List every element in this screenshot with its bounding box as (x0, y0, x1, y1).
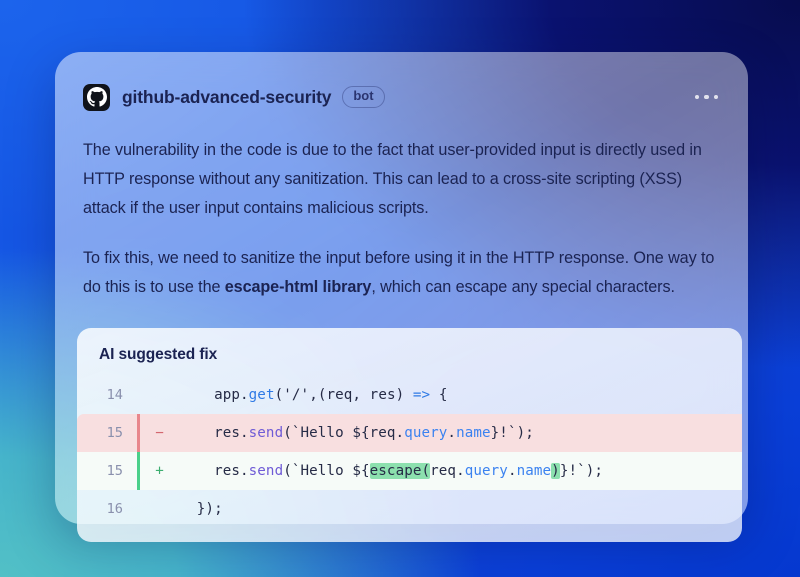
line-number: 15 (85, 425, 137, 441)
line-number: 14 (85, 387, 137, 403)
table-row: 14 app.get('/',(req, res) => { (77, 376, 742, 414)
line-number: 16 (85, 501, 137, 517)
escape-html-library-term: escape-html library (225, 278, 372, 296)
author-name: github-advanced-security (122, 87, 331, 108)
paragraph-vulnerability: The vulnerability in the code is due to … (83, 136, 720, 223)
code-text: res.send(`Hello ${escape(req.query.name)… (180, 463, 604, 479)
dot (714, 95, 719, 100)
table-row: 16 }); (77, 490, 742, 528)
dot (695, 95, 700, 100)
line-number: 15 (85, 463, 137, 479)
ellipsis-horizontal-icon[interactable] (693, 89, 721, 106)
paragraph-fix-suffix: , which can escape any special character… (371, 278, 675, 296)
dot (704, 95, 709, 100)
diff-gutter-bar (137, 490, 140, 528)
paragraph-fix: To fix this, we need to sanitize the inp… (83, 244, 720, 302)
bot-badge: bot (342, 86, 384, 108)
code-text: app.get('/',(req, res) => { (180, 387, 448, 403)
ai-suggested-fix-panel: AI suggested fix 14 app.get('/',(req, re… (77, 328, 742, 542)
code-panel-title: AI suggested fix (77, 346, 742, 376)
diff-sign: − (140, 425, 180, 441)
diff-lines: 14 app.get('/',(req, res) => { 15 − res.… (77, 376, 742, 528)
comment-card: github-advanced-security bot The vulnera… (55, 52, 748, 524)
github-octocat-icon (83, 84, 110, 111)
code-text: res.send(`Hello ${req.query.name}!`); (180, 425, 534, 441)
diff-sign: + (140, 463, 180, 479)
code-text: }); (180, 501, 223, 517)
table-row: 15 − res.send(`Hello ${req.query.name}!`… (77, 414, 742, 452)
diff-gutter-bar (137, 376, 140, 414)
comment-header: github-advanced-security bot (83, 82, 720, 112)
table-row: 15 + res.send(`Hello ${escape(req.query.… (77, 452, 742, 490)
